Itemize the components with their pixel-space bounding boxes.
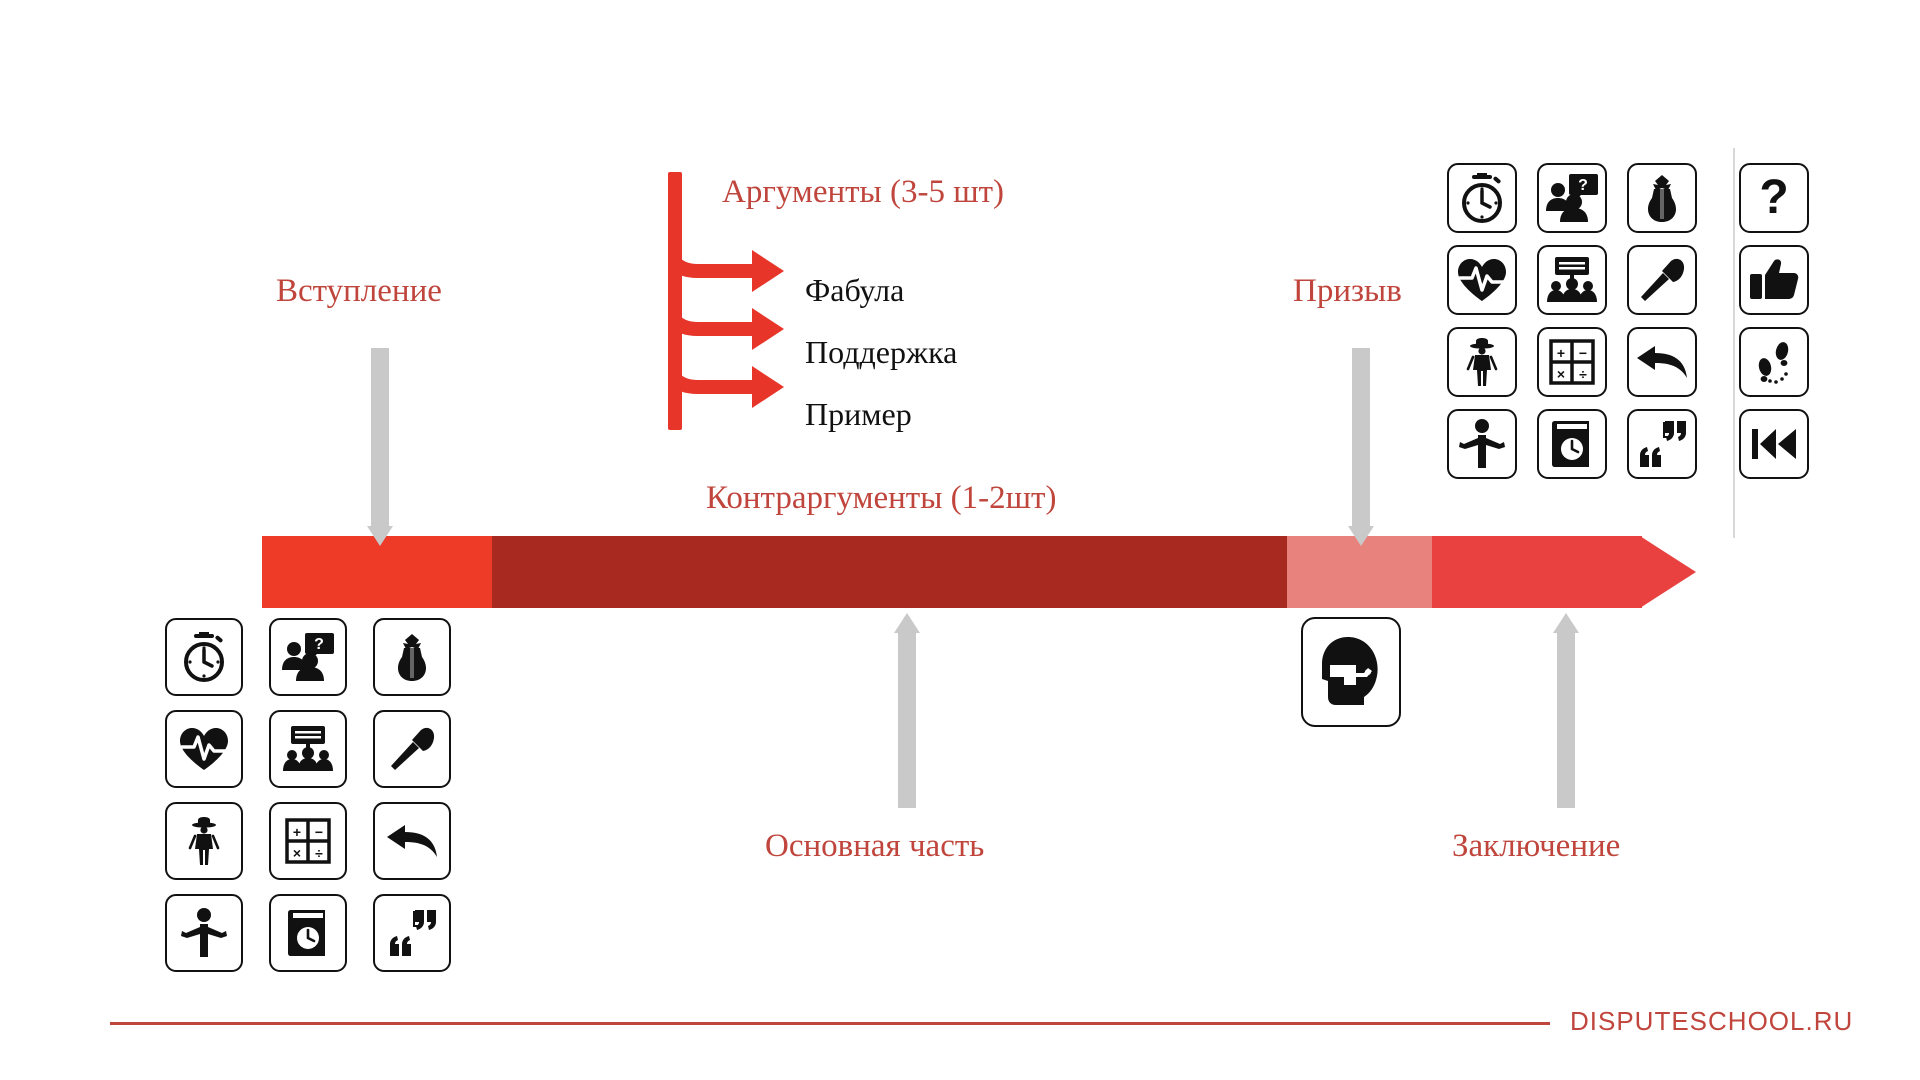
back-arrow-icon-tile xyxy=(373,802,451,880)
back-arrow-icon-tile xyxy=(1627,327,1697,397)
heartbeat-icon xyxy=(1456,257,1508,303)
person-hat-icon-tile xyxy=(1447,327,1517,397)
label-argument-step-3: Пример xyxy=(805,398,912,430)
clock-book-icon xyxy=(1549,419,1595,469)
svg-text:÷: ÷ xyxy=(1579,366,1587,382)
quotes-icon-tile xyxy=(1627,409,1697,479)
arrow-head xyxy=(894,613,920,633)
footer-divider xyxy=(110,1022,1550,1025)
label-main-part: Основная часть xyxy=(765,830,984,863)
arrow-call-down xyxy=(1348,348,1374,546)
timeline-arrow-tip xyxy=(1640,536,1696,608)
calculator-icon-tile: + − × ÷ xyxy=(269,802,347,880)
timeline-bar xyxy=(262,536,1700,608)
label-arguments: Аргументы (3-5 шт) xyxy=(722,176,1004,209)
shrug-person-icon xyxy=(180,907,228,959)
shrug-person-icon xyxy=(1458,418,1506,470)
thumbs-up-icon xyxy=(1749,258,1799,302)
arrow-head xyxy=(367,526,393,546)
calculator-icon: + − × ÷ xyxy=(1549,339,1595,385)
bomb-icon-tile xyxy=(1627,163,1697,233)
heartbeat-icon xyxy=(178,726,230,772)
footprints-icon xyxy=(1752,337,1796,387)
quotes-icon xyxy=(386,907,438,959)
quotes-icon xyxy=(1636,418,1688,470)
person-hat-icon xyxy=(184,815,224,867)
label-call-to-action: Призыв xyxy=(1293,275,1402,308)
arrow-shaft xyxy=(898,633,916,808)
calculator-icon-tile: + − × ÷ xyxy=(1537,327,1607,397)
stopwatch-icon xyxy=(178,631,230,683)
arrow-head xyxy=(1553,613,1579,633)
heartbeat-icon-tile xyxy=(1447,245,1517,315)
axe-icon-tile xyxy=(373,710,451,788)
clock-book-icon-tile xyxy=(1537,409,1607,479)
clock-book-icon xyxy=(285,908,331,958)
person-hat-icon-tile xyxy=(165,802,243,880)
label-conclusion: Заключение xyxy=(1452,830,1620,863)
footer-site-url: DISPUTESCHOOL.RU xyxy=(1570,1006,1853,1037)
back-arrow-icon xyxy=(1635,344,1689,380)
heartbeat-icon-tile xyxy=(165,710,243,788)
svg-text:−: − xyxy=(315,824,323,840)
arguments-bracket xyxy=(668,172,828,442)
svg-text:÷: ÷ xyxy=(315,845,323,861)
axe-icon xyxy=(1637,255,1687,305)
arrow-shaft xyxy=(1557,633,1575,808)
label-introduction: Вступление xyxy=(276,275,442,308)
svg-text:×: × xyxy=(293,845,301,861)
clock-book-icon-tile xyxy=(269,894,347,972)
person-hat-icon xyxy=(1462,336,1502,388)
rewind-icon-tile xyxy=(1739,409,1809,479)
head-tools-icon xyxy=(1318,635,1384,709)
svg-text:?: ? xyxy=(1578,177,1588,194)
svg-text:+: + xyxy=(293,824,301,840)
arrow-intro-down xyxy=(367,348,393,546)
shrug-person-icon-tile xyxy=(165,894,243,972)
bomb-icon xyxy=(391,631,433,683)
arrow-shaft xyxy=(1352,348,1370,526)
svg-text:+: + xyxy=(1557,345,1565,361)
calculator-icon: + − × ÷ xyxy=(285,818,331,864)
presentation-audience-icon-tile xyxy=(1537,245,1607,315)
head-tools-icon-tile xyxy=(1301,617,1401,727)
shrug-person-icon-tile xyxy=(1447,409,1517,479)
back-arrow-icon xyxy=(385,823,439,859)
people-question-icon-tile: ? xyxy=(269,618,347,696)
icon-grid-separator xyxy=(1733,148,1735,538)
label-argument-step-1: Фабула xyxy=(805,274,904,306)
stopwatch-icon-tile xyxy=(1447,163,1517,233)
bomb-icon xyxy=(1641,172,1683,224)
svg-text:?: ? xyxy=(1759,172,1788,224)
branch-arrow-1 xyxy=(668,242,784,292)
svg-text:?: ? xyxy=(314,636,324,653)
axe-icon-tile xyxy=(1627,245,1697,315)
footprints-icon-tile xyxy=(1739,327,1809,397)
thumbs-up-icon-tile xyxy=(1739,245,1809,315)
stopwatch-icon-tile xyxy=(165,618,243,696)
branch-arrow-3 xyxy=(668,358,784,408)
branch-arrow-2 xyxy=(668,300,784,350)
label-argument-step-2: Поддержка xyxy=(805,336,957,368)
rewind-icon xyxy=(1750,427,1798,461)
arrow-head xyxy=(1348,526,1374,546)
arrow-main-up xyxy=(894,613,920,808)
question-mark-icon-tile: ? xyxy=(1739,163,1809,233)
label-counterarguments: Контраргументы (1-2шт) xyxy=(706,482,1056,515)
stopwatch-icon xyxy=(1456,172,1508,224)
svg-text:×: × xyxy=(1557,366,1565,382)
question-mark-icon: ? xyxy=(1756,172,1792,224)
axe-icon xyxy=(387,724,437,774)
presentation-audience-icon xyxy=(1545,256,1599,304)
people-question-icon-tile: ? xyxy=(1537,163,1607,233)
presentation-audience-icon xyxy=(281,725,335,773)
presentation-audience-icon-tile xyxy=(269,710,347,788)
bomb-icon-tile xyxy=(373,618,451,696)
timeline-segment-call xyxy=(1287,536,1432,608)
people-question-icon: ? xyxy=(1545,173,1599,223)
svg-text:−: − xyxy=(1579,345,1587,361)
timeline-segment-intro xyxy=(262,536,492,608)
timeline-segment-conclusion xyxy=(1432,536,1642,608)
arrow-shaft xyxy=(371,348,389,526)
arrow-conclusion-up xyxy=(1553,613,1579,808)
quotes-icon-tile xyxy=(373,894,451,972)
people-question-icon: ? xyxy=(281,632,335,682)
infographic-canvas: Вступление Аргументы (3-5 шт) Контраргум… xyxy=(0,0,1920,1080)
timeline-segment-main xyxy=(492,536,1287,608)
